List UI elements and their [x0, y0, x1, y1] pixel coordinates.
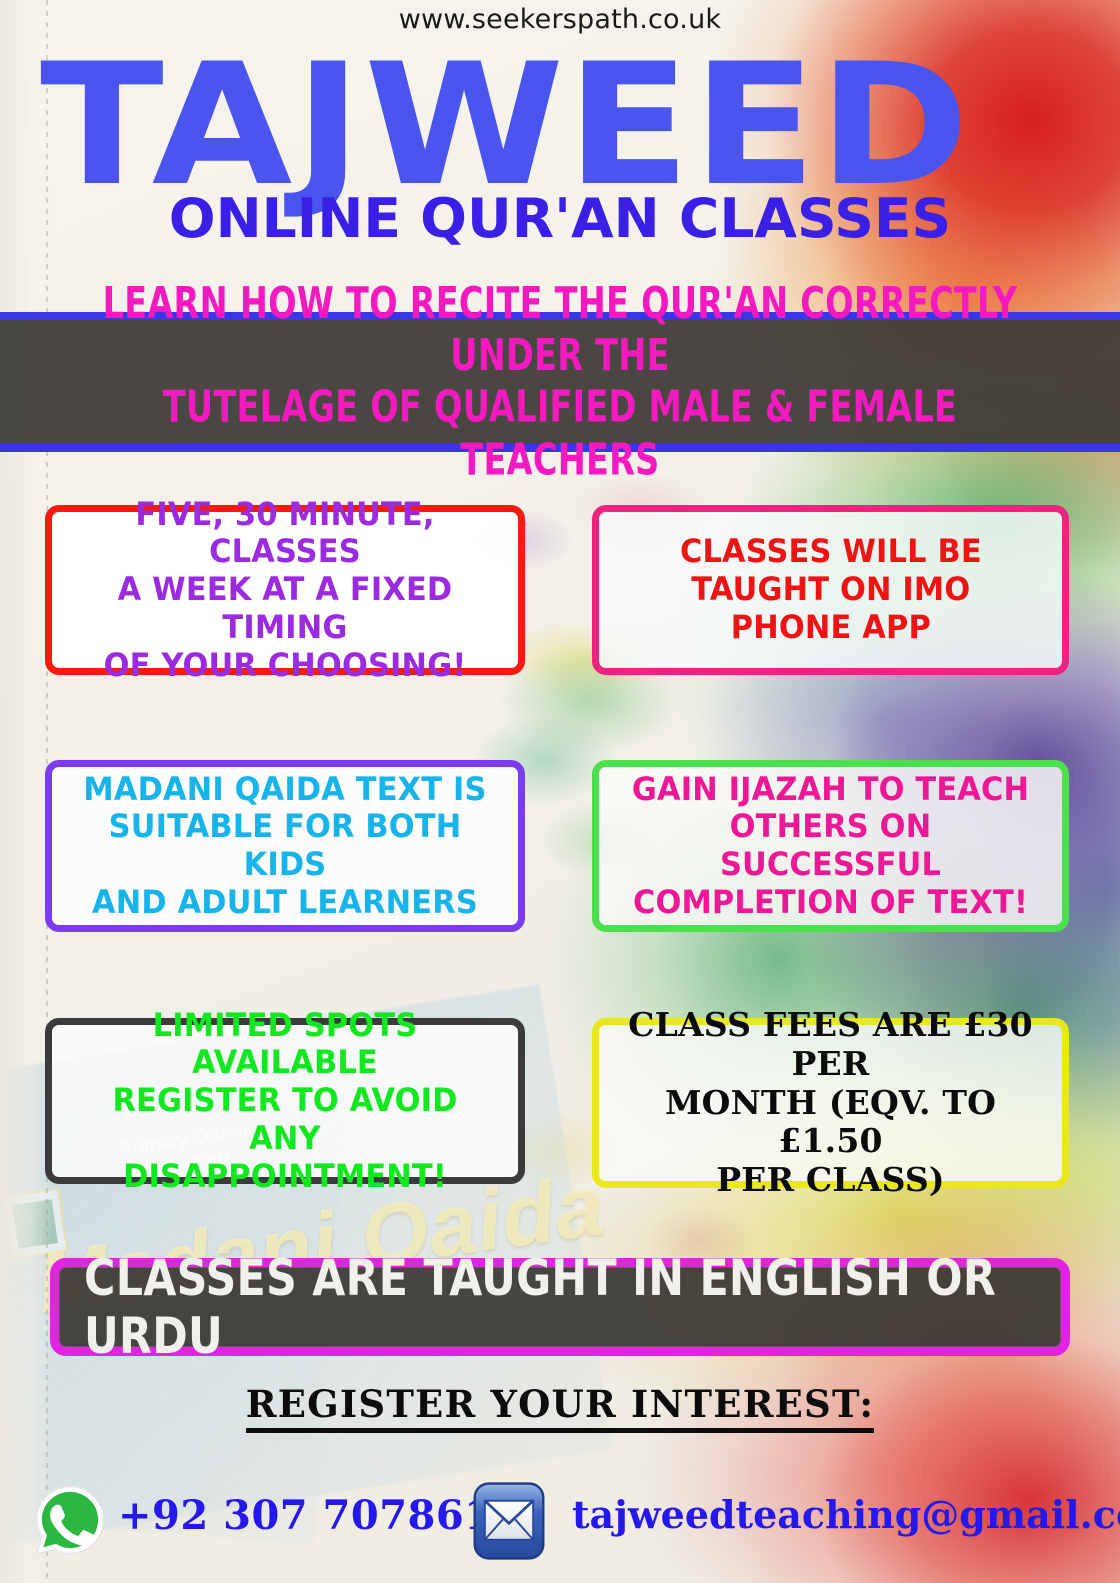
feature-card-textbook-text: MADANI QAIDA TEXT IS SUITABLE FOR BOTH K…	[81, 771, 490, 922]
page-subtitle: ONLINE QUR'AN CLASSES	[0, 192, 1120, 246]
headline-band-text: LEARN HOW TO RECITE THE QUR'AN CORRECTLY…	[39, 278, 1081, 486]
feature-card-ijazah-text: GAIN IJAZAH TO TEACH OTHERS ON SUCCESSFU…	[628, 771, 1034, 922]
poster-canvas: Primary Qur'an Holy Qur'an Madani Qaida …	[0, 0, 1120, 1583]
feature-platform-line-2: TAUGHT ON IMO	[691, 570, 970, 608]
feature-textbook-line-2: SUITABLE FOR BOTH KIDS	[109, 807, 462, 883]
headline-line-1: LEARN HOW TO RECITE THE QUR'AN CORRECTLY…	[103, 278, 1018, 381]
feature-card-platform: CLASSES WILL BE TAUGHT ON IMO PHONE APP	[592, 505, 1069, 675]
feature-platform-line-3: PHONE APP	[730, 608, 930, 646]
whatsapp-phone-number[interactable]: +92 307 7078616	[118, 1492, 521, 1539]
register-heading-label: REGISTER YOUR INTEREST:	[246, 1382, 875, 1433]
feature-schedule-line-1: FIVE, 30 MINUTE, CLASSES	[135, 495, 434, 571]
headline-line-2: TUTELAGE OF QUALIFIED MALE & FEMALE TEAC…	[163, 382, 957, 485]
email-address[interactable]: tajweedteaching@gmail.com	[572, 1492, 1120, 1537]
feature-platform-line-1: CLASSES WILL BE	[680, 532, 982, 570]
whatsapp-icon[interactable]	[32, 1480, 108, 1560]
feature-card-schedule: FIVE, 30 MINUTE, CLASSES A WEEK AT A FIX…	[45, 505, 525, 675]
feature-ijazah-line-2: OTHERS ON SUCCESSFUL	[720, 807, 941, 883]
feature-availability-line-3: DISAPPOINTMENT!	[123, 1157, 447, 1195]
feature-card-textbook: MADANI QAIDA TEXT IS SUITABLE FOR BOTH K…	[45, 760, 525, 932]
feature-card-availability-text: LIMITED SPOTS AVAILABLE REGISTER TO AVOI…	[81, 1007, 490, 1196]
feature-textbook-line-1: MADANI QAIDA TEXT IS	[83, 770, 486, 808]
register-heading: REGISTER YOUR INTEREST:	[0, 1382, 1120, 1426]
feature-fees-line-1: CLASS FEES ARE £30 PER	[628, 1005, 1033, 1083]
feature-schedule-line-3: OF YOUR CHOOSING!	[104, 646, 467, 684]
headline-band: LEARN HOW TO RECITE THE QUR'AN CORRECTLY…	[0, 312, 1120, 452]
feature-card-platform-text: CLASSES WILL BE TAUGHT ON IMO PHONE APP	[680, 533, 982, 646]
feature-card-availability: LIMITED SPOTS AVAILABLE REGISTER TO AVOI…	[45, 1018, 525, 1184]
feature-fees-line-3: PER CLASS)	[716, 1160, 945, 1199]
feature-card-ijazah: GAIN IJAZAH TO TEACH OTHERS ON SUCCESSFU…	[592, 760, 1069, 932]
feature-card-fees-text: CLASS FEES ARE £30 PER MONTH (EQV. TO £1…	[617, 1006, 1044, 1201]
feature-ijazah-line-3: COMPLETION OF TEXT!	[633, 883, 1028, 921]
feature-card-schedule-text: FIVE, 30 MINUTE, CLASSES A WEEK AT A FIX…	[81, 496, 490, 685]
feature-schedule-line-2: A WEEK AT A FIXED TIMING	[118, 570, 453, 646]
contact-row: +92 307 7078616 tajweedteaching@gmail.co…	[0, 1478, 1120, 1568]
feature-fees-line-2: MONTH (EQV. TO £1.50	[665, 1083, 996, 1161]
page-title: TAJWEED	[40, 48, 1012, 203]
feature-ijazah-line-1: GAIN IJAZAH TO TEACH	[632, 770, 1029, 808]
feature-card-fees: CLASS FEES ARE £30 PER MONTH (EQV. TO £1…	[592, 1018, 1069, 1188]
feature-availability-line-2: REGISTER TO AVOID ANY	[112, 1081, 457, 1157]
language-banner-text: CLASSES ARE TAUGHT IN ENGLISH OR URDU	[84, 1249, 1036, 1365]
feature-availability-line-1: LIMITED SPOTS AVAILABLE	[153, 1006, 418, 1082]
feature-textbook-line-3: AND ADULT LEARNERS	[92, 883, 478, 921]
language-banner: CLASSES ARE TAUGHT IN ENGLISH OR URDU	[50, 1258, 1070, 1356]
email-envelope-icon[interactable]	[470, 1478, 548, 1564]
